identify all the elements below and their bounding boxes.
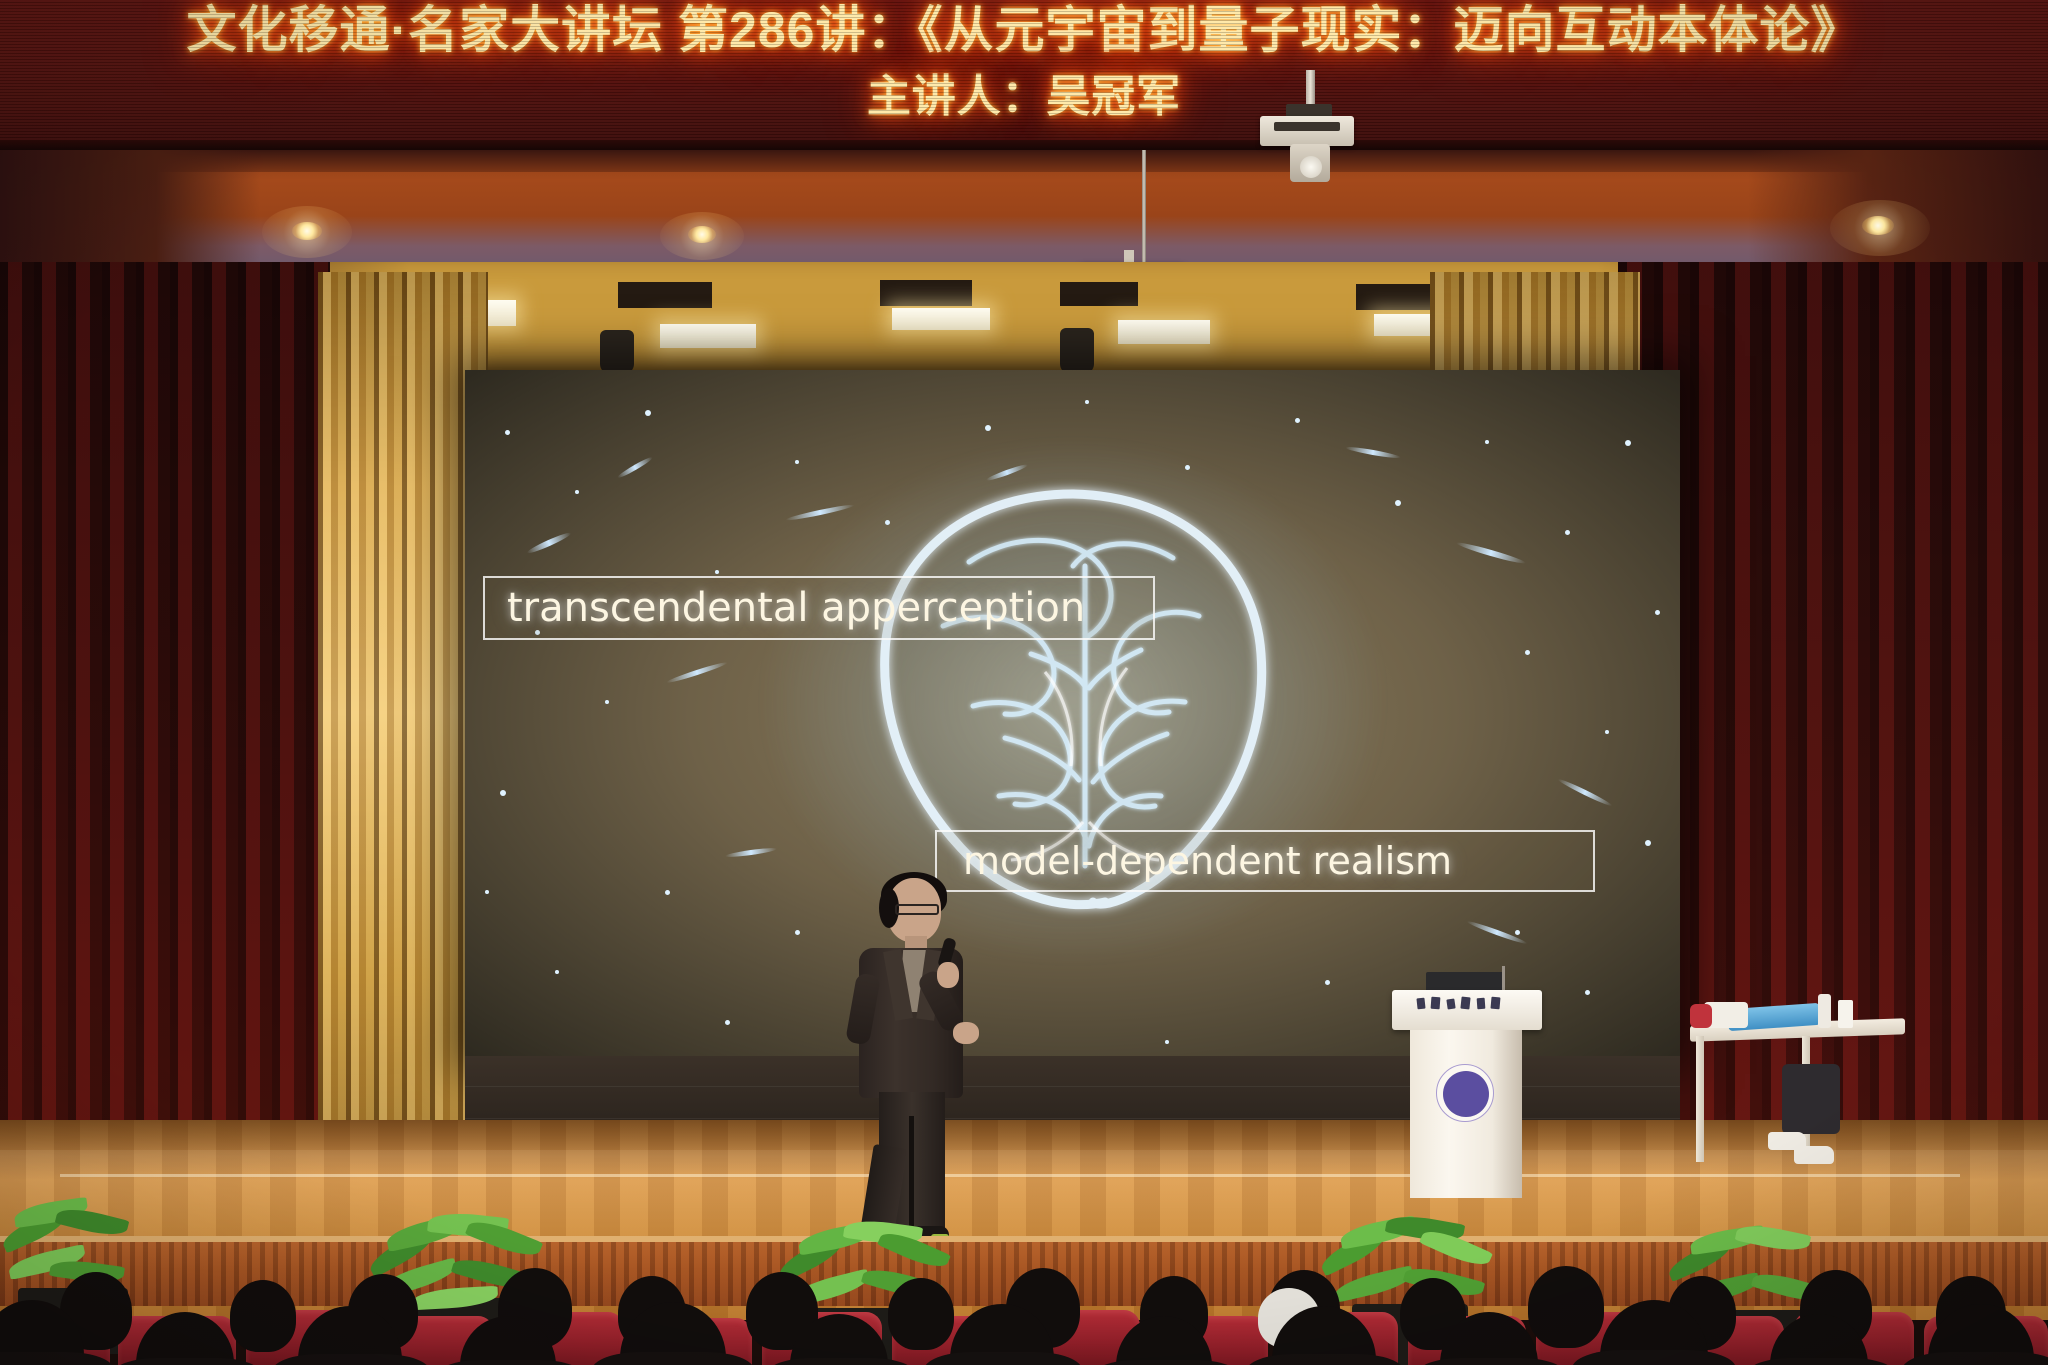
audience-head (1528, 1266, 1604, 1348)
screen-label-transcendental-apperception: transcendental apperception (483, 576, 1155, 640)
screen-label-top-text: transcendental apperception (507, 585, 1085, 631)
audience-shoulders (592, 1352, 754, 1365)
podium-institution-name (1411, 996, 1581, 1016)
podium-microphone-stem (1502, 966, 1505, 992)
led-banner-title: 文化移通·名家大讲坛 第286讲：《从元宇宙到量子现实：迈向互动本体论》 (0, 2, 2048, 58)
speaker-trouser-seam (909, 1116, 914, 1226)
projection-screen: transcendental apperception model-depend… (465, 370, 1680, 1060)
speaker-glasses (895, 904, 939, 915)
light-rig-vent (1274, 122, 1340, 131)
light-rig-lens (1300, 156, 1322, 178)
speaker-person (845, 878, 975, 1248)
table-item-cup (1838, 1000, 1853, 1028)
table-item-red-cloth (1690, 1004, 1712, 1028)
audience-shoulders (924, 1352, 1082, 1365)
audience-shoulders (1902, 1352, 2048, 1365)
downlight-right (1862, 216, 1894, 235)
side-table (1690, 980, 1920, 1180)
seated-person-behind-table (1782, 1064, 1840, 1134)
speaker-hand-gesture (953, 1022, 979, 1044)
table-item-bottle (1818, 994, 1831, 1028)
speaker-hand-with-mic (937, 962, 959, 988)
curtain-gold-left (318, 272, 488, 1252)
ceiling-shadow (0, 150, 2048, 172)
led-banner: 文化移通·名家大讲坛 第286讲：《从元宇宙到量子现实：迈向互动本体论》 主讲人… (0, 0, 2048, 150)
downlight-mid (688, 226, 716, 243)
audience-head (230, 1280, 296, 1352)
curtain-red-left (0, 262, 330, 1262)
podium-emblem (1436, 1064, 1494, 1122)
podium (1406, 990, 1526, 1198)
audience-shoulders (1246, 1354, 1404, 1365)
light-rig-body (1260, 116, 1354, 146)
audience-shoulders (1572, 1350, 1736, 1365)
seated-person-shoe-2 (1794, 1146, 1834, 1164)
lecture-hall-photo: 文化移通·名家大讲坛 第286讲：《从元宇宙到量子现实：迈向互动本体论》 主讲人… (0, 0, 2048, 1365)
side-table-leg-left (1696, 1036, 1704, 1162)
moving-head-light (1252, 70, 1362, 190)
podium-emblem-inner (1443, 1071, 1489, 1117)
downlight-left (292, 222, 322, 240)
podium-side-shadow (1492, 1030, 1522, 1198)
audience-shoulders (272, 1354, 430, 1365)
ceiling-left-shade (0, 150, 260, 270)
screen-label-bottom-text: model-dependent realism (963, 839, 1452, 883)
audience-head (888, 1278, 954, 1350)
led-banner-speaker: 主讲人：吴冠军 (0, 72, 2048, 122)
screen-label-model-dependent-realism: model-dependent realism (935, 830, 1595, 892)
